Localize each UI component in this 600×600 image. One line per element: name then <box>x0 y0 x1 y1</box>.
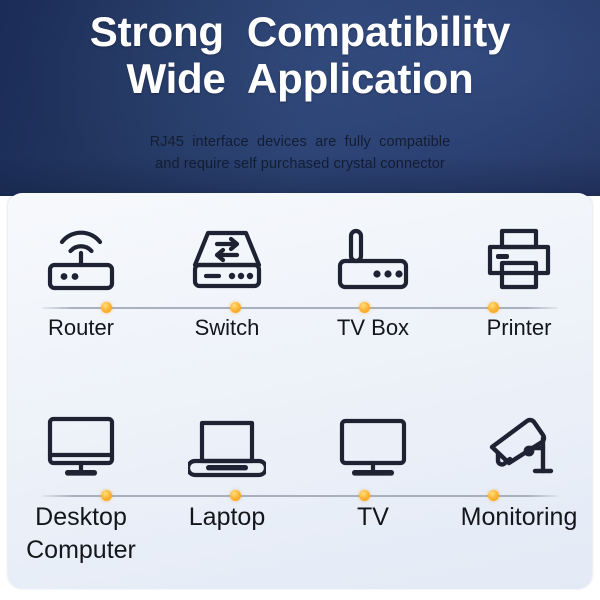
network-switch-icon <box>187 221 267 295</box>
device-item-desktop-computer[interactable] <box>8 391 154 483</box>
marker-dot-monitoring <box>488 490 499 501</box>
device-row-1-icons <box>8 203 592 295</box>
device-row-2-icons <box>8 391 592 483</box>
device-item-tv-box[interactable] <box>300 203 446 295</box>
printer-icon <box>483 223 555 295</box>
device-item-printer[interactable] <box>446 203 592 295</box>
device-item-switch[interactable] <box>154 203 300 295</box>
subtitle-line-1: RJ45 interface devices are fully compati… <box>0 131 600 153</box>
marker-dot-laptop <box>230 490 241 501</box>
device-label-switch: Switch <box>154 313 300 343</box>
security-camera-icon <box>479 413 559 483</box>
promo-banner: Strong Compatibility Wide Application RJ… <box>0 0 600 600</box>
marker-dot-desktop-computer <box>101 490 112 501</box>
device-row-1-labels: Router Switch TV Box Printer <box>8 313 592 343</box>
marker-dot-tv-box <box>359 302 370 313</box>
device-label-router: Router <box>8 313 154 343</box>
device-item-router[interactable] <box>8 203 154 295</box>
marker-dot-printer <box>488 302 499 313</box>
device-compatibility-card: Router Switch TV Box Printer <box>8 193 592 589</box>
desktop-monitor-icon <box>43 409 119 483</box>
device-row-1-markers <box>42 307 558 309</box>
header-banner: Strong Compatibility Wide Application RJ… <box>0 0 600 196</box>
device-label-desktop-computer: DesktopComputer <box>8 501 154 567</box>
device-row-1: Router Switch TV Box Printer <box>8 203 592 343</box>
page-title: Strong Compatibility Wide Application <box>0 8 600 102</box>
title-line-2: Wide Application <box>0 55 600 102</box>
device-row-1-rule <box>42 307 558 309</box>
device-row-2-labels: DesktopComputer Laptop TV Monitoring <box>8 501 592 567</box>
marker-dot-switch <box>230 302 241 313</box>
device-row-2-rule <box>42 495 558 497</box>
tv-box-icon <box>333 221 413 295</box>
device-label-tv: TV <box>300 501 446 567</box>
device-label-tv-box: TV Box <box>300 313 446 343</box>
device-label-monitoring: Monitoring <box>446 501 592 567</box>
marker-dot-router <box>101 302 112 313</box>
laptop-icon <box>188 413 266 483</box>
device-item-tv[interactable] <box>300 391 446 483</box>
device-item-monitoring[interactable] <box>446 391 592 483</box>
television-icon <box>335 413 411 483</box>
device-row-2-markers <box>42 495 558 497</box>
title-line-1: Strong Compatibility <box>0 8 600 55</box>
subtitle: RJ45 interface devices are fully compati… <box>0 131 600 175</box>
router-icon <box>42 221 120 295</box>
device-item-laptop[interactable] <box>154 391 300 483</box>
marker-dot-tv <box>359 490 370 501</box>
subtitle-line-2: and require self purchased crystal conne… <box>0 153 600 175</box>
device-label-laptop: Laptop <box>154 501 300 567</box>
device-label-printer: Printer <box>446 313 592 343</box>
device-row-2: DesktopComputer Laptop TV Monitoring <box>8 391 592 567</box>
